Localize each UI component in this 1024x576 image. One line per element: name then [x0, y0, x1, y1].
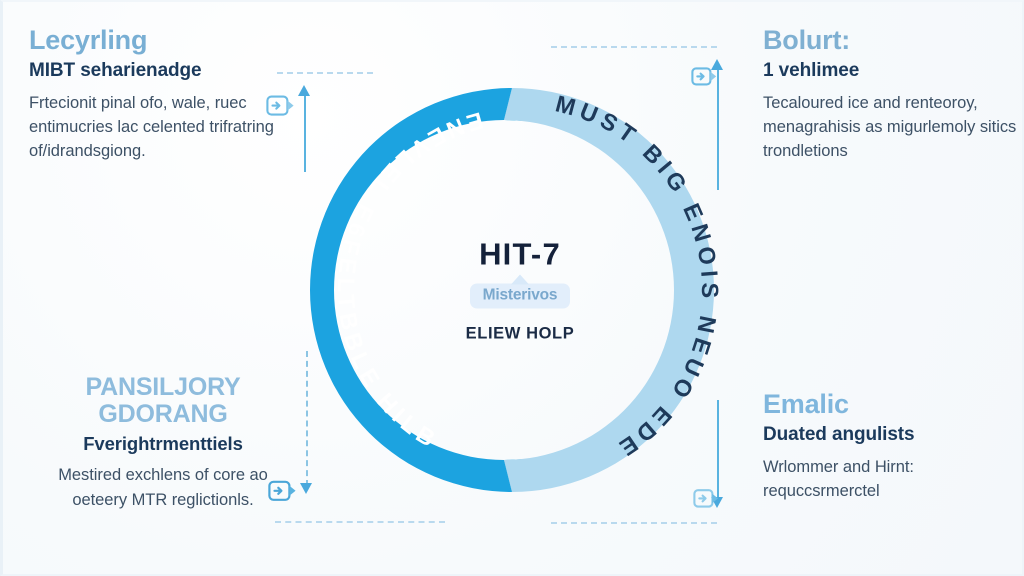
quadrant-top-right: Bolurt: 1 vehlimee Tecaloured ice and re… — [763, 26, 1024, 163]
quadrant-eyebrow: Emalic — [763, 390, 1024, 419]
quadrant-body: Tecaloured ice and renteoroy, menagrahis… — [763, 91, 1024, 163]
dashed-guide-line — [551, 522, 717, 524]
infographic-canvas: Lecyrling MIBT seharienadge Frtecionit p… — [0, 0, 1024, 576]
dashed-guide-line — [275, 521, 445, 523]
quadrant-body: Mestired exchlens of core ao oeteery MTR… — [29, 463, 297, 513]
quadrant-eyebrow: PANSILJORY GDORANG — [29, 374, 297, 428]
ring-center-hub: HIT-7 Misterivos ELIEW HOLP — [422, 237, 618, 344]
hub-title: HIT-7 — [422, 237, 618, 273]
badge-pointer-icon — [511, 275, 529, 285]
quadrant-eyebrow: Bolurt: — [763, 26, 1024, 55]
quadrant-bottom-left: PANSILJORY GDORANG Fverightrmenttiels Me… — [29, 374, 297, 513]
quadrant-body: Frtecionit pinal ofo, wale, ruec entimuc… — [29, 91, 297, 163]
donut-ring-chart: ENEVLEL E6FELTBBLE HILB MUST BIG ENOIS N… — [290, 60, 750, 520]
hub-badge: Misterivos — [470, 284, 571, 309]
quadrant-subhead: MIBT seharienadge — [29, 60, 297, 82]
quadrant-subhead: Duated angulists — [763, 424, 1024, 446]
quadrant-bottom-right: Emalic Duated angulists Wrlommer and Hir… — [763, 390, 1024, 503]
dashed-guide-line — [551, 46, 717, 48]
hub-badge-label: Misterivos — [483, 287, 558, 304]
quadrant-subhead: 1 vehlimee — [763, 60, 1024, 82]
quadrant-body: Wrlommer and Hirnt: requccsrmerctel — [763, 455, 1024, 503]
hub-subtitle: ELIEW HOLP — [422, 325, 618, 344]
quadrant-subhead: Fverightrmenttiels — [29, 433, 297, 454]
quadrant-eyebrow: Lecyrling — [29, 26, 297, 55]
quadrant-top-left: Lecyrling MIBT seharienadge Frtecionit p… — [29, 26, 297, 163]
